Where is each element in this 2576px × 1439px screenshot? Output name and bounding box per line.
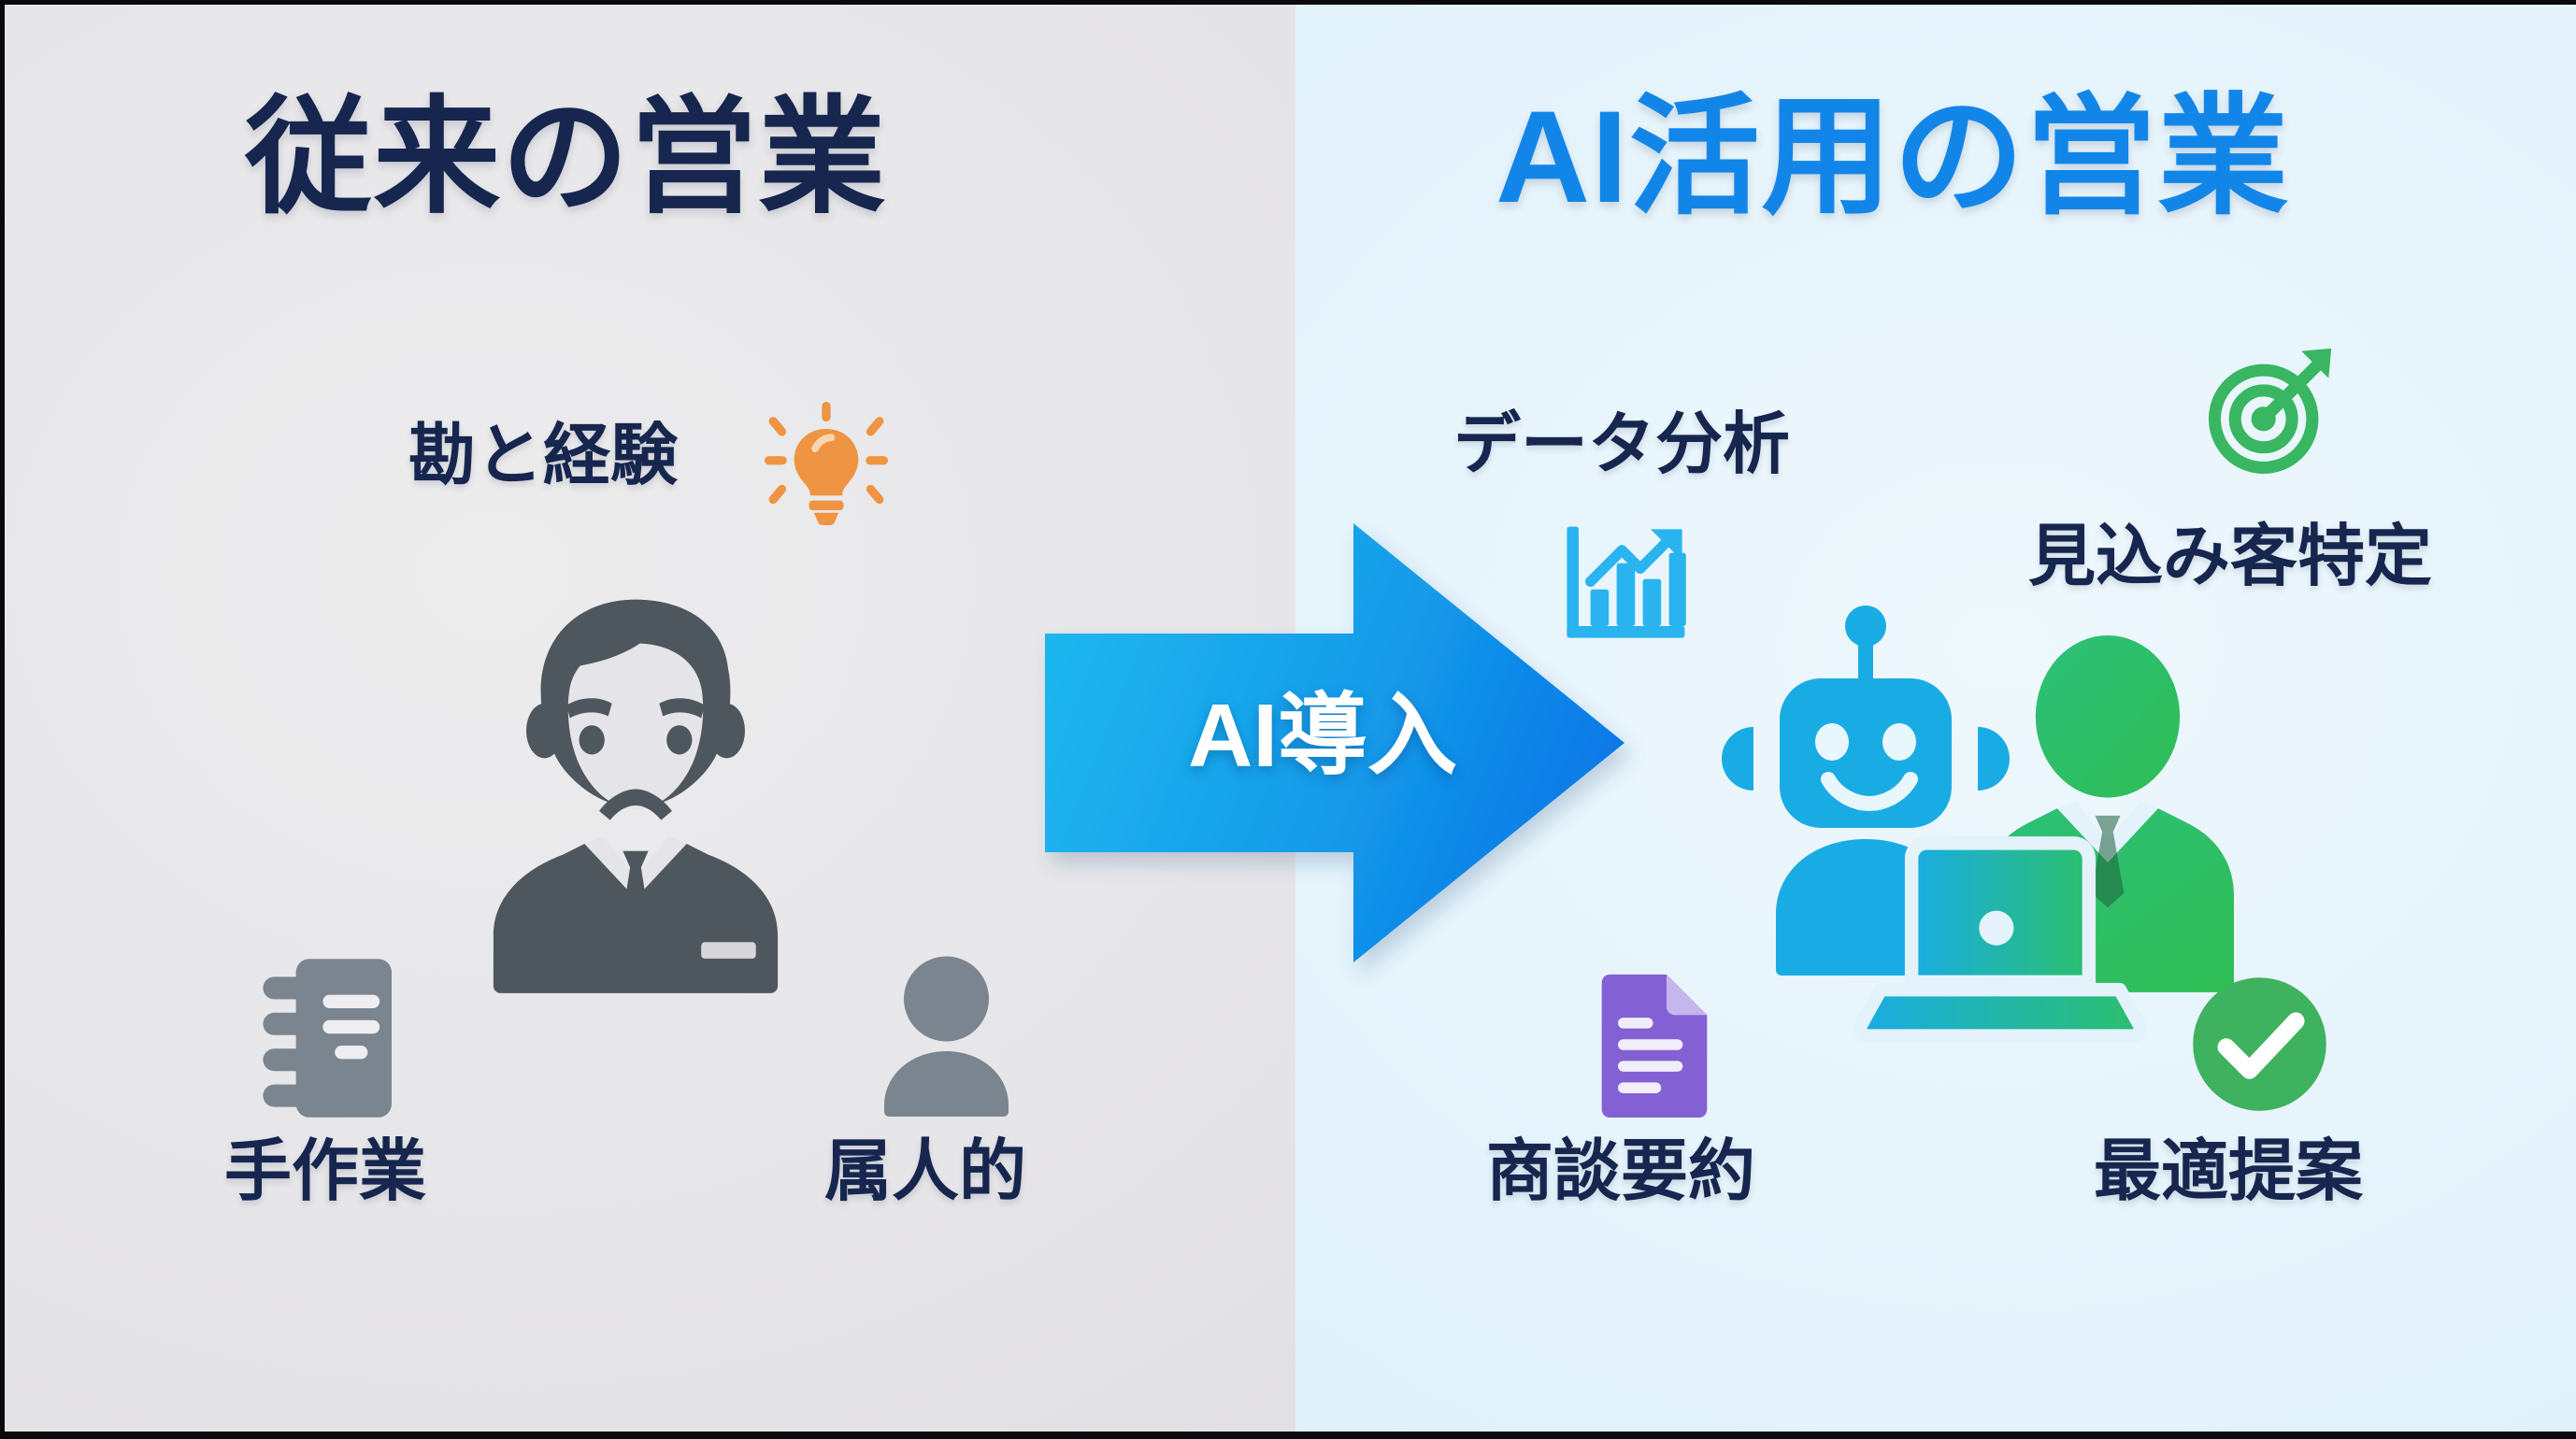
- frame-edge-bottom: [0, 1432, 2576, 1439]
- label-optimal-proposal: 最適提案: [2094, 1138, 2363, 1205]
- frame-edge-top: [0, 0, 2576, 5]
- lightbulb-icon: [765, 402, 888, 525]
- label-manual-work: 手作業: [224, 1138, 426, 1205]
- frame-edge-left: [0, 0, 5, 1439]
- infographic-canvas: 従来の営業 勘と経験: [0, 0, 2576, 1439]
- person-icon: [865, 953, 1028, 1121]
- label-person-dependent: 属人的: [824, 1138, 1026, 1205]
- notebook-icon: [257, 956, 407, 1119]
- check-circle-icon: [2187, 972, 2332, 1117]
- laptop-icon: [1846, 832, 2154, 1047]
- label-intuition-and-experience: 勘と経験: [408, 422, 678, 490]
- document-lines-icon: [1594, 972, 1715, 1121]
- arrow-label: AI導入: [1122, 691, 1524, 781]
- page-title-right: AI活用の営業: [1496, 92, 2290, 222]
- label-lead-identification: 見込み客特定: [2028, 523, 2432, 591]
- label-meeting-summary: 商談要約: [1486, 1138, 1755, 1205]
- target-dart-icon: [2201, 346, 2337, 481]
- sad-businessman-icon: [453, 589, 818, 990]
- label-data-analysis: データ分析: [1453, 411, 1790, 478]
- page-title-left: 従来の営業: [245, 93, 887, 221]
